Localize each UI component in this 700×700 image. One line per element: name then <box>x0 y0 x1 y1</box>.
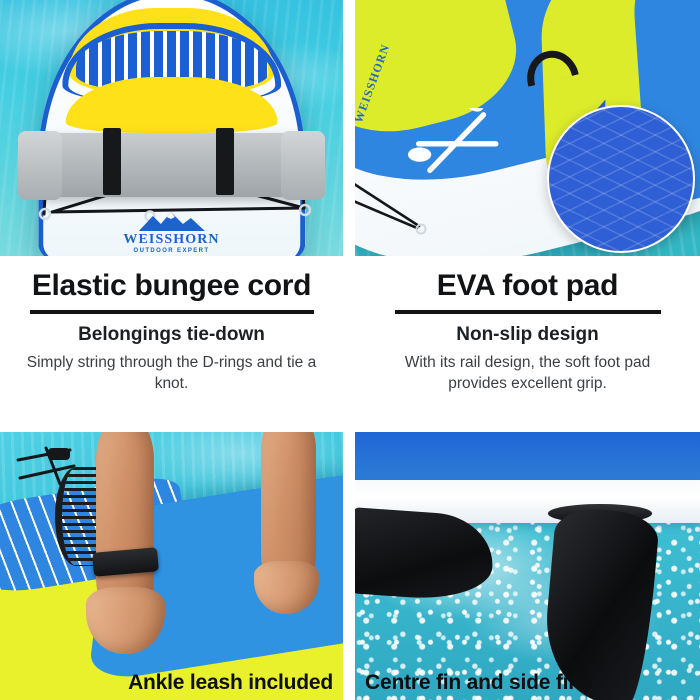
feature-text-bungee: Elastic bungee cord Belongings tie-down … <box>0 256 343 432</box>
panel-eva-photo: WEISSHORN <box>355 0 700 256</box>
feature-description: With its rail design, the soft foot pad … <box>378 353 678 394</box>
cargo-dry-bag <box>41 133 302 197</box>
brand-tagline: OUTDOOR EXPERT <box>123 248 219 254</box>
eva-pad-photo: WEISSHORN <box>355 0 700 256</box>
column-gap <box>343 0 355 256</box>
coiled-leash-cord <box>55 467 100 566</box>
feature-title: Elastic bungee cord <box>32 270 311 302</box>
column-gap <box>343 256 355 432</box>
feature-description: Simply string through the D-rings and ti… <box>22 353 322 394</box>
feature-subtitle: Belongings tie-down <box>78 324 265 346</box>
mountain-icon <box>136 210 206 232</box>
column-gap <box>343 432 355 700</box>
feature-title: EVA foot pad <box>437 270 618 302</box>
panel-caption: Centre fin and side fins <box>365 671 592 695</box>
feature-grid: WEISSHORN OUTDOOR EXPERT WEI <box>0 0 700 700</box>
panel-bungee-photo: WEISSHORN OUTDOOR EXPERT <box>0 0 343 256</box>
eva-texture-magnifier <box>547 105 695 253</box>
cargo-strap <box>103 128 121 195</box>
ankle-leash-photo: Ankle leash included <box>0 432 343 700</box>
brand-name: WEISSHORN <box>123 233 219 247</box>
title-divider <box>30 310 314 314</box>
weisshorn-logo: WEISSHORN OUTDOOR EXPERT <box>123 210 219 254</box>
panel-caption: Ankle leash included <box>128 671 333 695</box>
feature-subtitle: Non-slip design <box>456 324 599 346</box>
panel-ankle-leash-photo: Ankle leash included <box>0 432 343 700</box>
board-rail-blue <box>355 432 700 486</box>
panel-fins-photo: Centre fin and side fins <box>355 432 700 700</box>
cargo-strap <box>216 128 234 195</box>
bungee-photo: WEISSHORN OUTDOOR EXPERT <box>0 0 343 256</box>
feature-text-eva: EVA foot pad Non-slip design With its ra… <box>355 256 700 432</box>
fins-photo: Centre fin and side fins <box>355 432 700 700</box>
title-divider <box>395 310 661 314</box>
